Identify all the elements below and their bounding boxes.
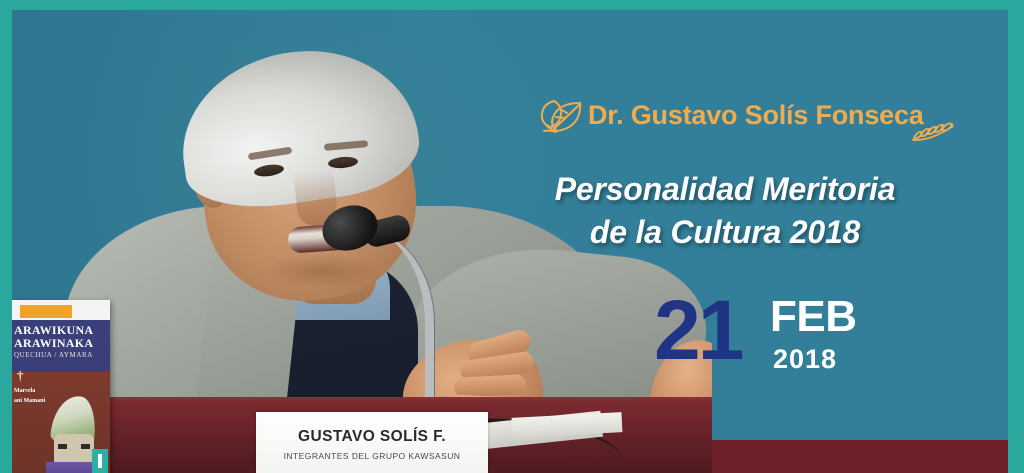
event-date: 21 FEB 2018 bbox=[632, 292, 932, 388]
byline-name: Dr. Gustavo Solís Fonseca bbox=[588, 100, 924, 131]
book-figure-eyes bbox=[58, 444, 90, 449]
book-publisher-strip bbox=[20, 305, 72, 318]
wheat-flourish-icon bbox=[910, 120, 958, 144]
book-mark: † bbox=[17, 368, 24, 384]
book-title-line2: ARAWINAKA bbox=[14, 337, 110, 350]
nameplate: GUSTAVO SOLÍS F. INTEGRANTES DEL GRUPO K… bbox=[256, 412, 488, 473]
leaf-ornament-icon bbox=[534, 95, 584, 135]
book-author-line1: Marcela bbox=[14, 388, 35, 394]
date-month: FEB bbox=[770, 295, 857, 339]
title-line-2: de la Cultura 2018 bbox=[482, 211, 968, 254]
bottom-maroon-band bbox=[712, 440, 1008, 473]
page-title: Personalidad Meritoria de la Cultura 201… bbox=[482, 168, 968, 254]
nameplate-name: GUSTAVO SOLÍS F. bbox=[256, 428, 488, 446]
book-author-line2: ani Mamani bbox=[14, 398, 45, 404]
byline: Dr. Gustavo Solís Fonseca bbox=[534, 91, 954, 139]
banner-inner-panel: S.M. REGVM IN PERV ACADEMIA S. MARCI VRB… bbox=[12, 10, 1008, 473]
nameplate-subtitle: INTEGRANTES DEL GRUPO KAWSASUN bbox=[256, 451, 488, 461]
book-title-block: ARAWIKUNA ARAWINAKA QUECHUA / AYMARA bbox=[12, 320, 110, 372]
book-subtitle: QUECHUA / AYMARA bbox=[14, 350, 110, 360]
date-year: 2018 bbox=[773, 346, 837, 373]
title-line-1: Personalidad Meritoria bbox=[482, 168, 968, 211]
book-publisher-logo bbox=[92, 449, 108, 473]
event-banner: S.M. REGVM IN PERV ACADEMIA S. MARCI VRB… bbox=[0, 0, 1024, 473]
date-day: 21 bbox=[654, 288, 741, 372]
book-cover: ARAWIKUNA ARAWINAKA QUECHUA / AYMARA † M… bbox=[12, 300, 110, 473]
